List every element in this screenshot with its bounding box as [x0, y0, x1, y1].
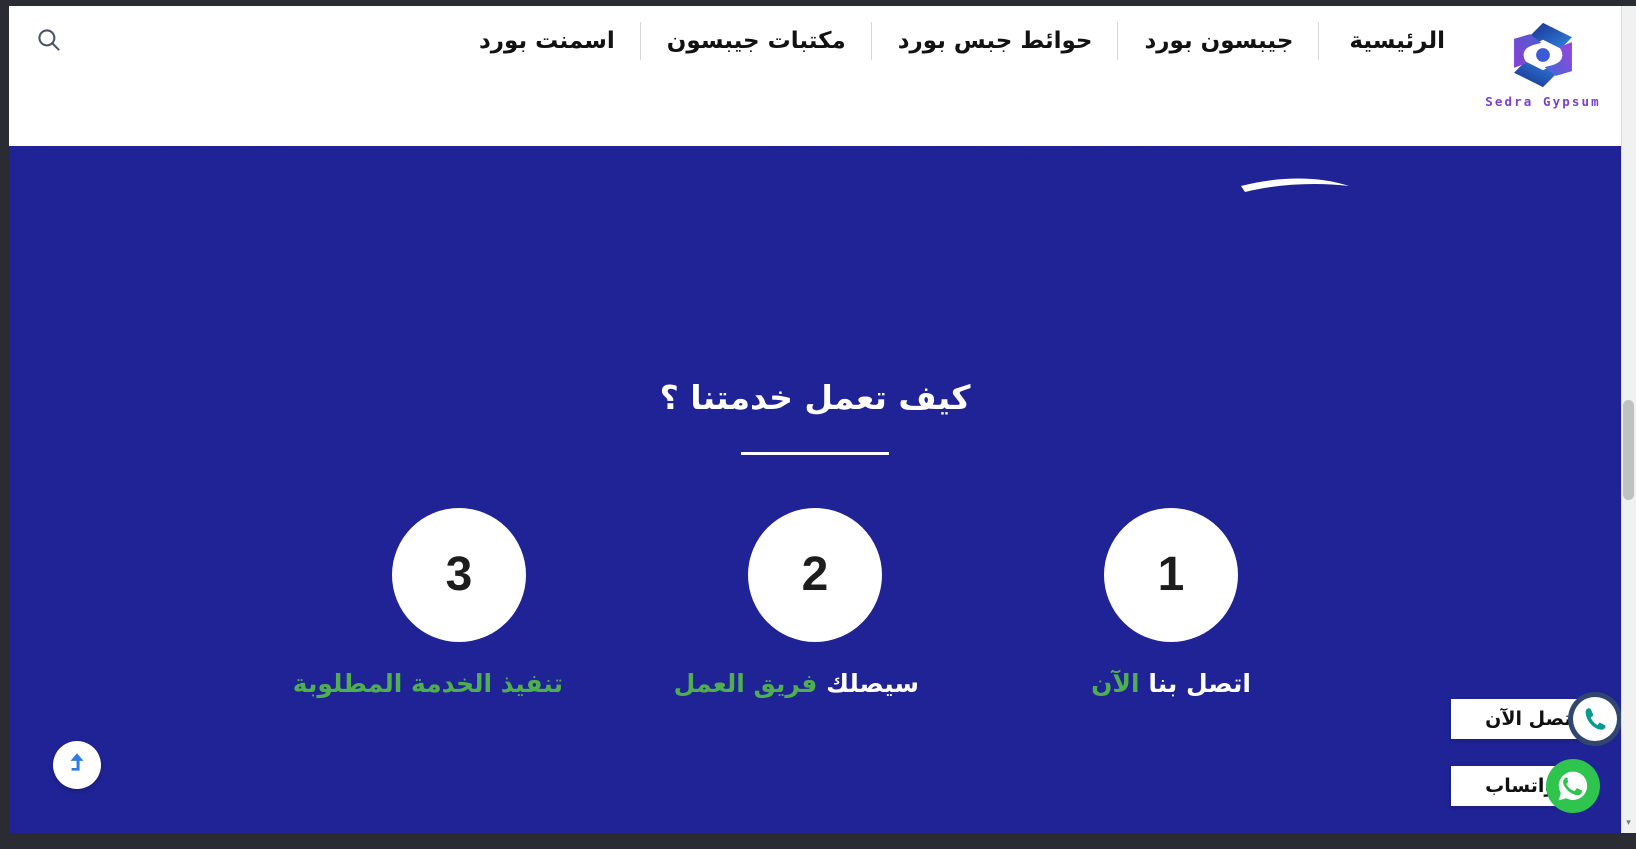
nav-item-home[interactable]: الرئيسية: [1319, 20, 1471, 62]
brand-name: Sedra Gypsum: [1477, 94, 1609, 109]
step-item-3: 3 تنفيذ الخدمة المطلوبة: [355, 508, 563, 701]
floating-contact-widgets: إتصل الآن واتساب: [1451, 692, 1622, 813]
how-it-works-section: كيف تعمل خدمتنا ؟ 1 اتصل بنا الآن 2 سيصل…: [9, 140, 1621, 833]
search-button[interactable]: [31, 22, 67, 58]
whatsapp-icon: [1546, 759, 1600, 813]
step-number-badge: 3: [392, 508, 526, 642]
step-label: تنفيذ الخدمة المطلوبة: [355, 668, 563, 701]
main-navigation: الرئيسية جيبسون بورد حوائط جبس بورد مكتب…: [453, 20, 1471, 62]
step-item-2: 2 سيصلك فريق العمل: [711, 508, 919, 701]
scroll-to-top-button[interactable]: [53, 741, 101, 789]
window-top-edge: [9, 0, 1636, 6]
hexagon-s-logo-icon: [1500, 18, 1586, 92]
step-label-accent: الآن: [1091, 669, 1140, 698]
whatsapp-button[interactable]: واتساب: [1451, 759, 1600, 813]
nav-item-gypsum-walls[interactable]: حوائط جبس بورد: [872, 20, 1119, 62]
step-label-primary: اتصل بنا: [1148, 669, 1251, 698]
window-left-edge: [0, 0, 9, 849]
window-bottom-edge: [0, 833, 1636, 849]
title-underline: [741, 452, 889, 455]
step-number-badge: 1: [1104, 508, 1238, 642]
step-item-1: 1 اتصل بنا الآن: [1067, 508, 1275, 701]
nav-item-cement-board[interactable]: اسمنت بورد: [453, 20, 641, 62]
step-label: اتصل بنا الآن: [1067, 668, 1275, 701]
browser-viewport: كيف تعمل خدمتنا ؟ 1 اتصل بنا الآن 2 سيصل…: [0, 0, 1636, 849]
brand-logo[interactable]: Sedra Gypsum: [1477, 18, 1609, 109]
steps-row: 1 اتصل بنا الآن 2 سيصلك فريق العمل 3 تنف…: [9, 508, 1621, 701]
step-label-accent: فريق العمل: [674, 669, 818, 698]
step-label: سيصلك فريق العمل: [711, 668, 919, 701]
phone-icon: [1568, 692, 1622, 746]
scrollbar-down-arrow[interactable]: ▾: [1623, 818, 1634, 829]
wave-divider: [9, 140, 1621, 290]
step-label-accent: تنفيذ الخدمة المطلوبة: [293, 669, 563, 698]
step-label-primary: سيصلك: [826, 669, 919, 698]
section-title: كيف تعمل خدمتنا ؟: [9, 378, 1621, 417]
nav-item-gypsum-libraries[interactable]: مكتبات جيبسون: [641, 20, 872, 62]
nav-item-gypsum-board[interactable]: جيبسون بورد: [1118, 20, 1319, 62]
scrollbar-thumb[interactable]: [1623, 400, 1634, 500]
site-header: الرئيسية جيبسون بورد حوائط جبس بورد مكتب…: [9, 6, 1621, 146]
arrow-up-icon: [64, 750, 90, 780]
step-number-badge: 2: [748, 508, 882, 642]
search-icon: [35, 26, 63, 54]
call-now-button[interactable]: إتصل الآن: [1451, 692, 1622, 746]
